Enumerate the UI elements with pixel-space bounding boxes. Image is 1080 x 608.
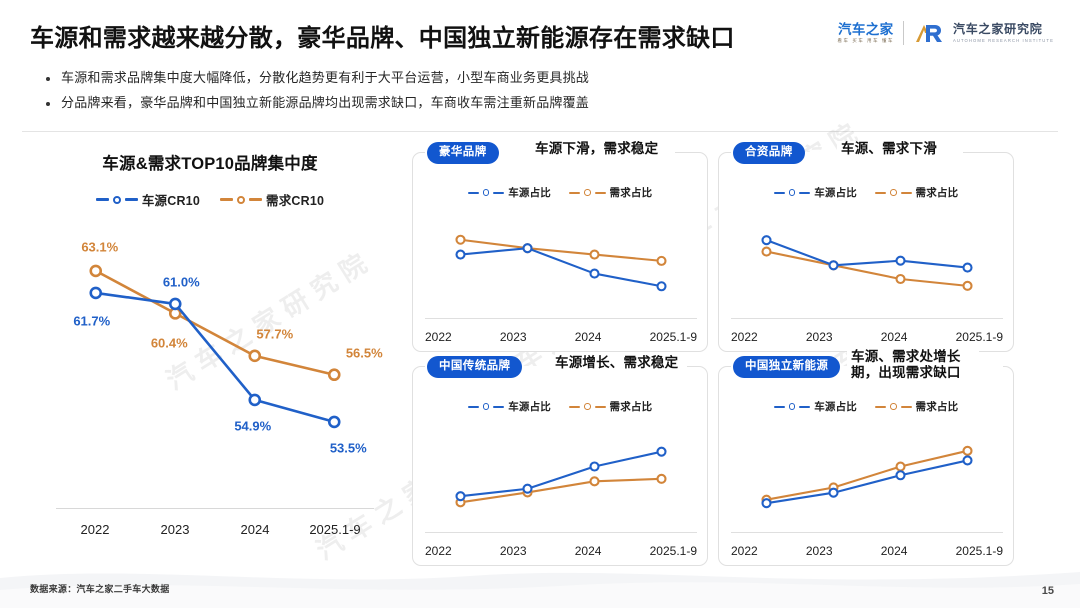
x-axis-tick-label: 2022 — [731, 544, 758, 558]
x-axis-tick-label: 2024 — [575, 544, 602, 558]
main-chart: 车源&需求TOP10品牌集中度 车源CR10 需求CR10 61.7%61.0%… — [22, 140, 398, 565]
x-axis-tick-label: 2023 — [806, 330, 833, 344]
subchart-x-labels: 2022202320242025.1-9 — [731, 544, 1003, 558]
data-point-label: 54.9% — [234, 418, 271, 433]
data-point-label: 56.5% — [346, 345, 383, 360]
x-axis-tick-label: 2025.1-9 — [650, 330, 697, 344]
autohome-logo-sub: 看车 买车 用车 懂车 — [838, 38, 894, 43]
x-axis-tick-label: 2025.1-9 — [296, 522, 374, 537]
main-chart-title: 车源&需求TOP10品牌集中度 — [22, 150, 398, 174]
legend-line-icon — [249, 198, 262, 201]
x-axis-tick-label: 2025.1-9 — [956, 544, 1003, 558]
page-number: 15 — [1042, 585, 1054, 597]
subchart-card-china-traditional: 中国传统品牌 车源增长、需求稳定 车源占比 需求占比 2022202320242… — [412, 366, 708, 566]
subchart-svg — [719, 153, 1015, 353]
x-axis-tick-label: 2024 — [881, 330, 908, 344]
subchart-svg — [413, 367, 709, 567]
legend-label: 需求CR10 — [266, 190, 324, 209]
ar-monogram-icon — [913, 22, 947, 44]
x-axis-tick-label: 2024 — [216, 522, 294, 537]
legend-line-icon — [96, 198, 109, 201]
legend-label: 车源CR10 — [142, 190, 200, 209]
data-point-label: 53.5% — [330, 440, 367, 455]
x-axis-tick-label: 2025.1-9 — [956, 330, 1003, 344]
bullet-dot-icon — [46, 77, 50, 81]
subchart-svg — [413, 153, 709, 353]
subchart-plot — [413, 153, 709, 353]
legend-item-cheyuan: 车源CR10 — [96, 190, 200, 209]
x-axis-tick-label: 2024 — [881, 544, 908, 558]
data-point-label: 61.0% — [163, 274, 200, 289]
bullet-text: 分品牌来看，豪华品牌和中国独立新能源品牌均出现需求缺口，车商收车需注重新品牌覆盖 — [61, 95, 589, 111]
subchart-plot — [719, 367, 1015, 567]
x-axis-tick-label: 2023 — [806, 544, 833, 558]
page-title: 车源和需求越来越分散，豪华品牌、中国独立新能源存在需求缺口 — [30, 18, 735, 53]
research-institute-en: AUTOHOME RESEARCH INSTITUTE — [953, 38, 1054, 43]
brand-divider — [903, 21, 904, 45]
main-chart-legend: 车源CR10 需求CR10 — [22, 190, 398, 209]
bullet-dot-icon — [46, 102, 50, 106]
subchart-x-axis — [425, 318, 697, 319]
subchart-x-axis — [425, 532, 697, 533]
x-axis-tick-label: 2022 — [56, 522, 134, 537]
main-chart-plot: 61.7%61.0%54.9%53.5%63.1%60.4%57.7%56.5%… — [22, 213, 398, 543]
data-point-label: 61.7% — [73, 313, 110, 328]
subchart-plot — [719, 153, 1015, 353]
x-axis-tick-label: 2025.1-9 — [650, 544, 697, 558]
header-divider — [22, 131, 1058, 132]
x-axis-tick-label: 2023 — [136, 522, 214, 537]
autohome-logo: 汽车之家 看车 买车 用车 懂车 — [838, 23, 894, 43]
brand-lockup: 汽车之家 看车 买车 用车 懂车 汽车之家研究院 AUTOHOME RESEAR… — [838, 18, 1054, 48]
subchart-card-joint-venture: 合资品牌 车源、需求下滑 车源占比 需求占比 2022202320242025.… — [718, 152, 1014, 352]
x-axis-tick-label: 2023 — [500, 544, 527, 558]
subchart-svg — [719, 367, 1015, 567]
x-axis-tick-label: 2022 — [425, 330, 452, 344]
x-axis-tick-label: 2024 — [575, 330, 602, 344]
subchart-plot — [413, 367, 709, 567]
legend-marker-icon — [113, 196, 121, 204]
legend-line-icon — [220, 198, 233, 201]
data-point-label: 63.1% — [81, 239, 118, 254]
research-institute-cn: 汽车之家研究院 — [953, 23, 1054, 36]
data-point-label: 57.7% — [256, 326, 293, 341]
main-chart-x-axis — [56, 508, 374, 509]
bullet-text: 车源和需求品牌集中度大幅降低，分散化趋势更有利于大平台运营，小型车商业务更具挑战 — [61, 70, 589, 86]
x-axis-tick-label: 2023 — [500, 330, 527, 344]
x-axis-tick-label: 2022 — [425, 544, 452, 558]
legend-marker-icon — [237, 196, 245, 204]
slide-root: 车源和需求越来越分散，豪华品牌、中国独立新能源存在需求缺口 汽车之家 看车 买车… — [0, 0, 1080, 608]
autohome-logo-cn: 汽车之家 — [838, 23, 894, 37]
subchart-x-labels: 2022202320242025.1-9 — [731, 330, 1003, 344]
legend-line-icon — [125, 198, 138, 201]
source-note: 数据来源：汽车之家二手车大数据 — [30, 582, 170, 595]
x-axis-tick-label: 2022 — [731, 330, 758, 344]
subchart-x-labels: 2022202320242025.1-9 — [425, 330, 697, 344]
data-point-label: 60.4% — [151, 336, 188, 351]
slide-header: 车源和需求越来越分散，豪华品牌、中国独立新能源存在需求缺口 汽车之家 看车 买车… — [0, 0, 1080, 130]
subchart-x-axis — [731, 532, 1003, 533]
subchart-card-china-nev: 中国独立新能源 车源、需求处增长期，出现需求缺口 车源占比 需求占比 20222… — [718, 366, 1014, 566]
subchart-card-luxury: 豪华品牌 车源下滑，需求稳定 车源占比 需求占比 202220232024202… — [412, 152, 708, 352]
bullet-list: 车源和需求品牌集中度大幅降低，分散化趋势更有利于大平台运营，小型车商业务更具挑战… — [46, 70, 589, 121]
main-chart-svg — [22, 213, 398, 543]
bullet-item: 车源和需求品牌集中度大幅降低，分散化趋势更有利于大平台运营，小型车商业务更具挑战 — [46, 70, 589, 86]
main-chart-x-labels: 2022202320242025.1-9 — [56, 522, 374, 537]
legend-item-xuqiu: 需求CR10 — [220, 190, 324, 209]
bullet-item: 分品牌来看，豪华品牌和中国独立新能源品牌均出现需求缺口，车商收车需注重新品牌覆盖 — [46, 95, 589, 111]
subchart-x-labels: 2022202320242025.1-9 — [425, 544, 697, 558]
subchart-x-axis — [731, 318, 1003, 319]
research-institute-logo: 汽车之家研究院 AUTOHOME RESEARCH INSTITUTE — [913, 22, 1054, 44]
